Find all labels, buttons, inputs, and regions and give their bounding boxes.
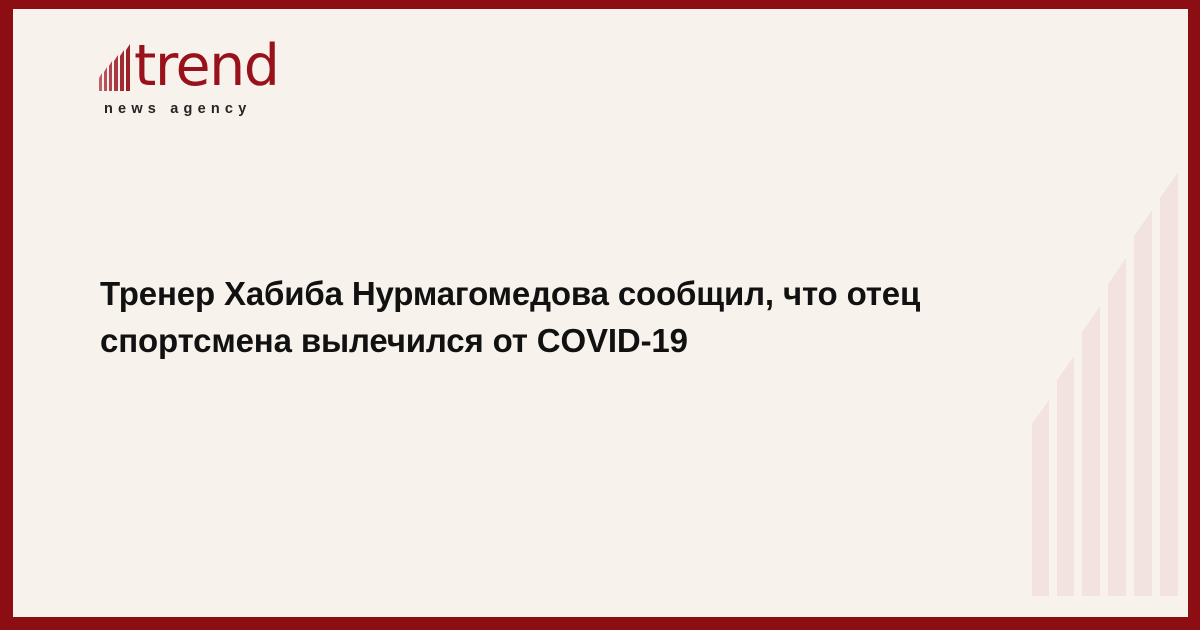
skyline-decoration-icon [1032,172,1178,596]
page-title: Тренер Хабиба Нурмагомедова сообщил, что… [100,271,1090,365]
logo-bar [109,61,112,91]
skyline-bars-icon [99,44,135,91]
logo-bar [104,67,107,91]
skyline-bar [1032,400,1049,596]
logo-tagline: news agency [104,101,399,117]
logo-bar [120,50,124,91]
trend-logo[interactable]: trend news agency [99,40,399,117]
logo-wordmark: trend [134,40,278,92]
logo-bar [99,73,102,91]
skyline-bar [1160,172,1178,596]
card-canvas: trend news agency Тренер Хабиба Нурмагом… [13,9,1188,617]
news-card: trend news agency Тренер Хабиба Нурмагом… [0,0,1200,630]
skyline-bar [1108,258,1126,596]
skyline-bar [1134,210,1152,596]
skyline-bar [1057,356,1074,596]
logo-mark: trend [99,40,399,92]
logo-bar [126,44,130,91]
logo-bar [114,55,118,91]
